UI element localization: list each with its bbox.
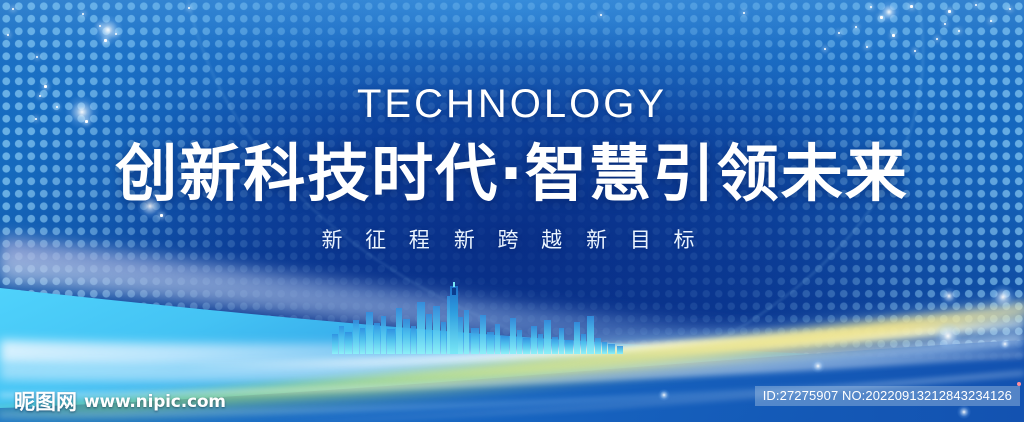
star-particle [944,23,946,25]
glow-particle [957,405,971,419]
star-particle [914,50,916,52]
page-title: 创新科技时代·智慧引领未来 [0,141,1024,208]
glow-particle [934,322,962,350]
subtitle-part-2: 新 跨 越 [454,228,570,252]
star-particle [600,14,602,16]
glow-particle [658,389,670,401]
corner-dot-marker [1017,382,1021,386]
star-particle [115,33,117,35]
star-particle [7,34,9,36]
eyebrow-text: TECHNOLOGY [0,84,1024,124]
star-particle [990,20,992,22]
star-particle [743,12,745,14]
glow-particle [878,1,900,23]
star-particle [975,4,977,6]
watermark-id-chip: ID:27275907 NO:20220913212843234126 [755,386,1020,406]
glow-particle [999,338,1011,350]
star-particle [936,38,938,40]
star-particle [12,8,14,10]
poster-text-block: TECHNOLOGY 创新科技时代·智慧引领未来 新 征 程新 跨 越新 目 标 [0,84,1024,251]
star-particle [824,48,826,50]
star-particle [948,10,951,13]
nipic-watermark-logo: 昵图网 www.nipic.com [14,392,226,413]
star-particle [958,30,960,32]
subtitle-text: 新 征 程新 跨 越新 目 标 [0,230,1024,251]
star-particle [866,46,868,48]
glow-particle [811,359,825,373]
glow-particle [990,284,1016,310]
subtitle-part-3: 新 目 标 [586,228,702,252]
star-particle [880,16,883,19]
subtitle-part-1: 新 征 程 [321,228,437,252]
star-particle [104,39,107,42]
star-particle [99,25,101,27]
technology-banner-poster: TECHNOLOGY 创新科技时代·智慧引领未来 新 征 程新 跨 越新 目 标… [0,0,1024,422]
watermark-brand-url: www.nipic.com [84,394,226,411]
star-particle [1009,8,1011,10]
star-particle [910,5,913,8]
star-particle [188,7,190,9]
glow-particle [93,15,123,45]
star-particle [82,13,84,15]
star-particle [855,26,857,28]
star-particle [838,32,840,34]
star-particle [870,6,872,8]
star-particle [36,56,38,58]
star-particle [892,34,895,37]
glow-particle [940,287,958,305]
watermark-brand-cn: 昵图网 [14,392,77,413]
